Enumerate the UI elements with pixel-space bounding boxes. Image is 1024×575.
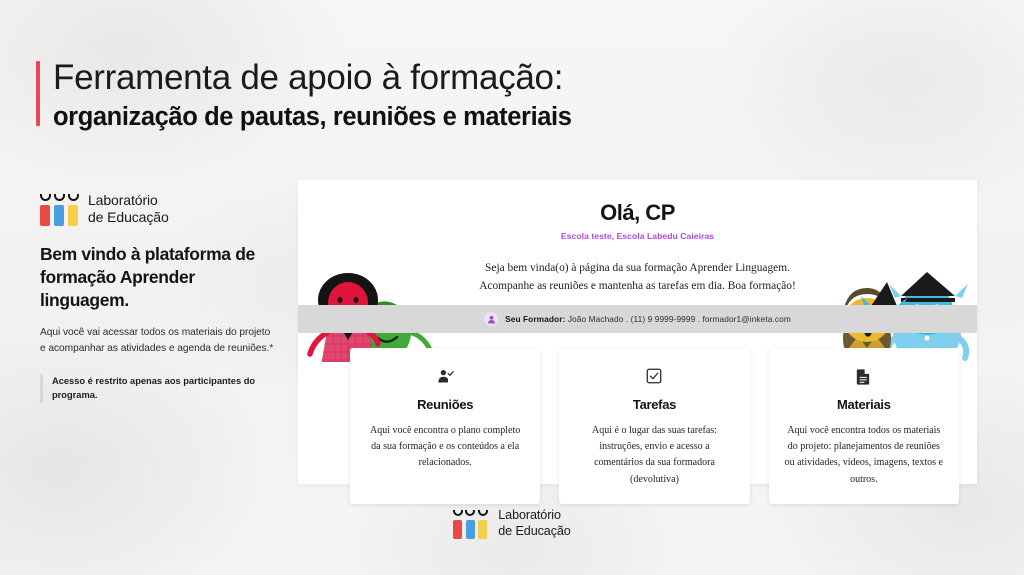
formador-name: João Machado [568, 314, 624, 324]
person-check-icon [366, 366, 524, 386]
logo-bar-blue [54, 205, 64, 226]
formador-label: Seu Formador: [505, 314, 565, 324]
person-icon [484, 312, 498, 326]
formador-info: Seu Formador: João Machado . (11) 9 9999… [505, 314, 791, 324]
logo-bar-red [453, 520, 462, 539]
logo-line-2: de Educação [88, 209, 169, 226]
formador-bar: Seu Formador: João Machado . (11) 9 9999… [298, 305, 977, 333]
greeting-block: Olá, CP Escola teste, Escola Labedu Caie… [298, 200, 977, 296]
card-title: Tarefas [575, 397, 733, 412]
laboratorio-logo: Laboratório de Educação [40, 192, 278, 226]
page-subtitle: organização de pautas, reuniões e materi… [53, 102, 572, 133]
laboratorio-logo-wordmark: Laboratório de Educação [88, 192, 169, 226]
logo-bar-yellow [478, 520, 487, 539]
sidebar-body-text: Aqui você vai acessar todos os materiais… [40, 325, 278, 357]
feature-cards: Reuniões Aqui você encontra o plano comp… [350, 348, 959, 504]
card-tarefas[interactable]: Tarefas Aqui é o lugar das suas tarefas:… [559, 348, 749, 504]
card-reunioes[interactable]: Reuniões Aqui você encontra o plano comp… [350, 348, 540, 504]
card-title: Reuniões [366, 397, 524, 412]
greeting-schools: Escola teste, Escola Labedu Caieiras [298, 231, 977, 241]
laboratorio-logo-mark [40, 192, 80, 226]
formador-sep-2: . [695, 314, 702, 324]
footer-logo-line-2: de Educação [498, 524, 570, 539]
sidebar: Laboratório de Educação Bem vindo à plat… [40, 192, 278, 403]
smile-arc-icon [54, 194, 65, 201]
smile-arc-icon [478, 510, 488, 516]
formador-phone: (11) 9 9999-9999 [631, 314, 696, 324]
footer-logo-line-1: Laboratório [498, 508, 570, 523]
header-accent-bar [36, 61, 40, 126]
sidebar-heading: Bem vindo à plataforma de formação Apren… [40, 243, 278, 312]
greeting-message-line-2: Acompanhe as reuniões e mantenha as tare… [298, 277, 977, 295]
smile-arc-icon [465, 510, 475, 516]
formador-email: formador1@inketa.com [703, 314, 791, 324]
footer-laboratorio-logo: Laboratório de Educação [0, 508, 1024, 539]
footer-logo-mark [453, 508, 489, 539]
smile-arc-icon [453, 510, 463, 516]
card-description: Aqui é o lugar das suas tarefas: instruç… [575, 423, 733, 488]
sidebar-access-note: Acesso é restrito apenas aos participant… [40, 374, 278, 403]
greeting-message: Seja bem vinda(o) à página da sua formaç… [298, 259, 977, 296]
app-screenshot-panel: Olá, CP Escola teste, Escola Labedu Caie… [298, 180, 977, 484]
smile-arc-icon [68, 194, 79, 201]
formador-sep-1: . [623, 314, 630, 324]
logo-line-1: Laboratório [88, 192, 169, 209]
card-title: Materiais [785, 397, 943, 412]
smile-arc-icon [40, 194, 51, 201]
footer-logo-wordmark: Laboratório de Educação [498, 508, 570, 539]
checkbox-icon [575, 366, 733, 386]
logo-bar-yellow [68, 205, 78, 226]
card-description: Aqui você encontra todos os materiais do… [785, 423, 943, 488]
logo-bar-blue [466, 520, 475, 539]
card-description: Aqui você encontra o plano completo da s… [366, 423, 524, 472]
logo-bar-red [40, 205, 50, 226]
slide-canvas: Ferramenta de apoio à formação: organiza… [0, 0, 1024, 575]
page-title: Ferramenta de apoio à formação: [53, 58, 572, 98]
header-title-block: Ferramenta de apoio à formação: organiza… [53, 58, 572, 132]
card-materiais[interactable]: Materiais Aqui você encontra todos os ma… [769, 348, 959, 504]
document-icon [785, 366, 943, 386]
greeting-message-line-1: Seja bem vinda(o) à página da sua formaç… [298, 259, 977, 277]
slide-header: Ferramenta de apoio à formação: organiza… [36, 58, 572, 132]
greeting-title: Olá, CP [298, 200, 977, 226]
